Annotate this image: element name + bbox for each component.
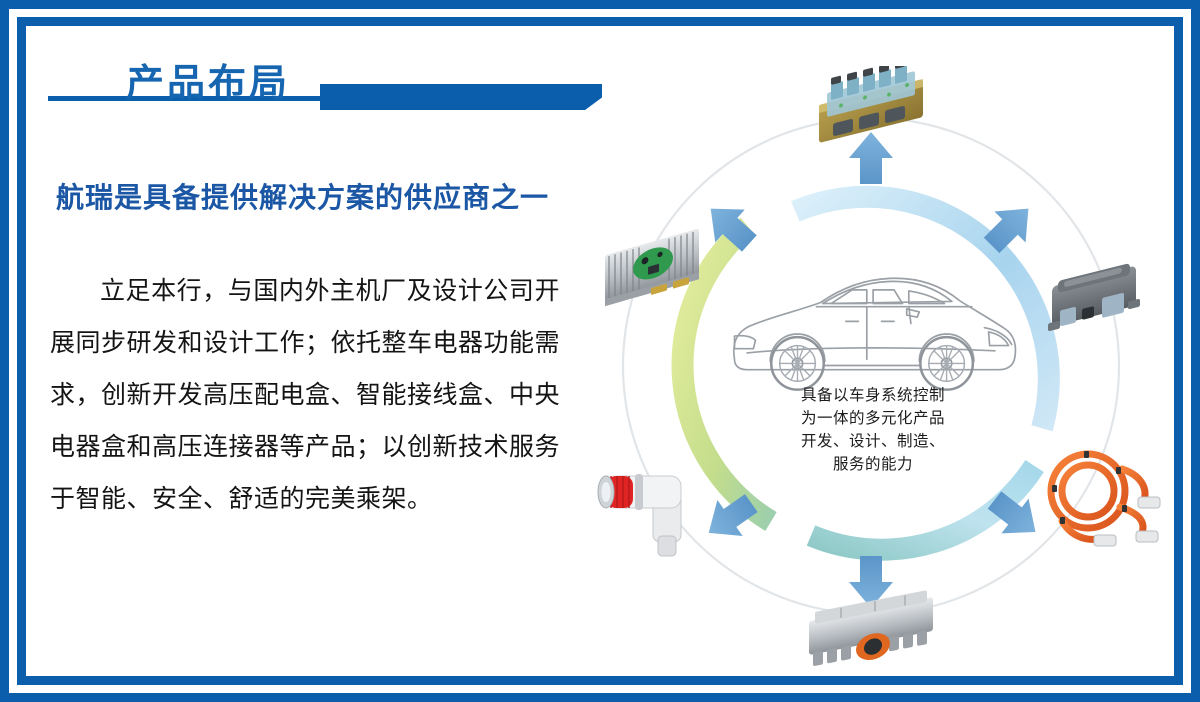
car-wheel-rear — [771, 337, 824, 390]
slide-root: 产品布局 航瑞是具备提供解决方案的供应商之一 立足本行，与国内外主机厂及设计公司… — [0, 0, 1200, 702]
product-red-white-hv-connector — [598, 474, 681, 556]
product-layout-diagram: 具备以车身系统控制 为一体的多元化产品 开发、设计、制造、 服务的能力 — [571, 66, 1171, 666]
ring-arc-group — [683, 197, 1049, 550]
center-caption-line-1: 具备以车身系统控制 — [723, 384, 1023, 407]
product-relay-fuse-module — [819, 66, 923, 143]
page-title: 产品布局 — [126, 52, 290, 107]
heading-bar-shape — [320, 84, 602, 110]
car-wheel-front — [920, 337, 973, 390]
arrow-up — [849, 132, 893, 184]
center-caption-line-4: 服务的能力 — [723, 453, 1023, 476]
body-paragraph: 立足本行，与国内外主机厂及设计公司开展同步研发和设计工作；依托整车电器功能需求，… — [50, 266, 560, 526]
sedan-car-line-drawing — [734, 278, 1016, 389]
slide-canvas: 产品布局 航瑞是具备提供解决方案的供应商之一 立足本行，与国内外主机厂及设计公司… — [26, 26, 1174, 676]
product-gray-junction-box — [1048, 261, 1140, 332]
center-caption-line-3: 开发、设计、制造、 — [723, 430, 1023, 453]
product-orange-hv-cable-harness — [1051, 451, 1160, 546]
center-caption-line-2: 为一体的多元化产品 — [723, 407, 1023, 430]
heading-block: 产品布局 — [26, 26, 626, 106]
center-caption: 具备以车身系统控制 为一体的多元化产品 开发、设计、制造、 服务的能力 — [723, 384, 1023, 476]
subtitle: 航瑞是具备提供解决方案的供应商之一 — [56, 176, 549, 216]
